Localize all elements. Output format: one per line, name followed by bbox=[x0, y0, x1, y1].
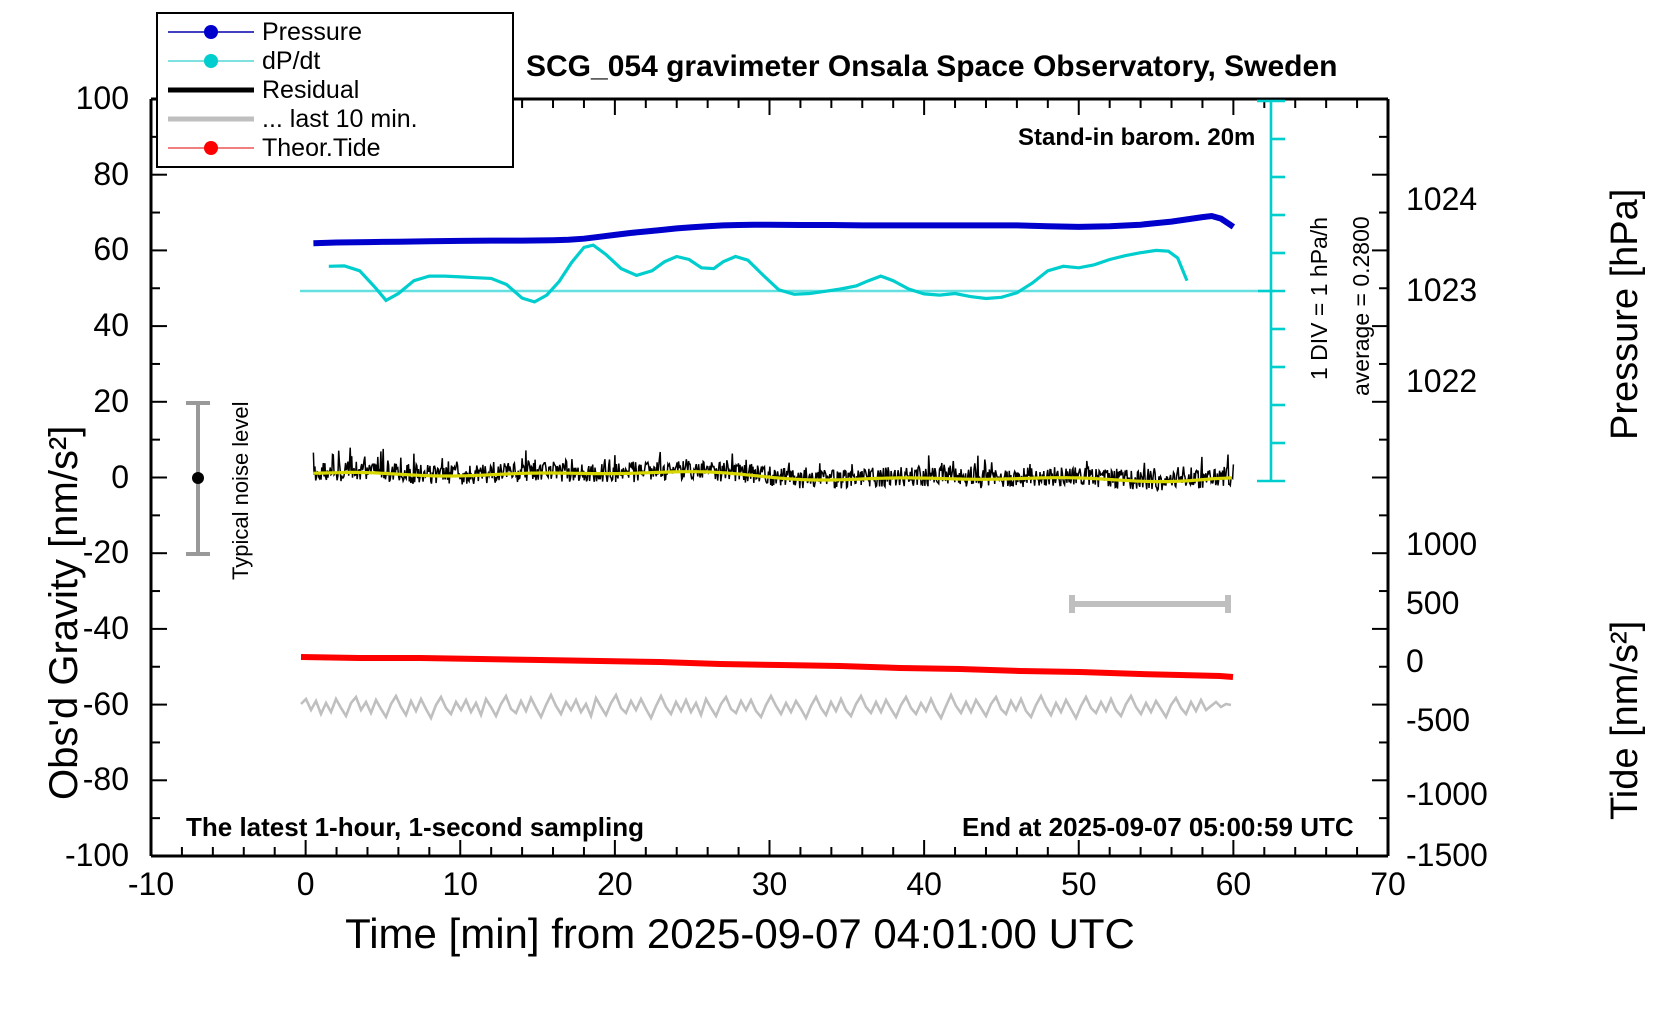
dpdt-trace bbox=[329, 245, 1187, 302]
y-axis-right-pressure-title: Pressure [hPa] bbox=[1604, 440, 1660, 483]
gravimeter-plot: Pressure dP/dt Residual ... last 10 min. bbox=[0, 0, 1660, 1020]
legend-label-residual: Residual bbox=[262, 78, 359, 103]
last-10-min-trace bbox=[301, 695, 1231, 718]
y-axis-right-ticks bbox=[1372, 99, 1388, 856]
theor-tide-line bbox=[301, 657, 1233, 677]
residual-trace bbox=[313, 448, 1233, 491]
legend-swatch-pressure bbox=[168, 22, 254, 42]
legend-item-pressure: Pressure bbox=[168, 18, 512, 47]
y-axis-left-title: Obs'd Gravity [nm/s²] bbox=[42, 800, 416, 845]
legend-swatch-dpdt bbox=[168, 51, 254, 71]
legend-swatch-residual bbox=[168, 80, 254, 100]
typical-noise-level-marker bbox=[186, 403, 210, 554]
legend-swatch-theor-tide bbox=[168, 138, 254, 158]
legend-item-dpdt: dP/dt bbox=[168, 47, 512, 76]
chart-title: SCG_054 gravimeter Onsala Space Observat… bbox=[526, 50, 1338, 84]
legend-label-last-10-min: ... last 10 min. bbox=[262, 107, 418, 132]
y-axis-right-tide-title: Tide [nm/s²] bbox=[1604, 820, 1660, 863]
legend: Pressure dP/dt Residual ... last 10 min. bbox=[156, 12, 514, 168]
y-axis-left-ticks bbox=[151, 99, 167, 856]
stand-in-barom-annotation: Stand-in barom. 20m bbox=[1018, 124, 1255, 152]
legend-item-last-10-min: ... last 10 min. bbox=[168, 105, 512, 134]
pressure-trace bbox=[313, 216, 1233, 243]
legend-label-dpdt: dP/dt bbox=[262, 49, 320, 74]
legend-item-residual: Residual bbox=[168, 76, 512, 105]
footer-right-note: End at 2025-09-07 05:00:59 UTC bbox=[962, 812, 1354, 843]
legend-item-theor-tide: Theor.Tide bbox=[168, 134, 512, 163]
dpdt-scale-bar bbox=[1257, 101, 1285, 481]
x-axis-title: Time [min] from 2025-09-07 04:01:00 UTC bbox=[0, 910, 1480, 958]
legend-swatch-last-10-min bbox=[168, 109, 254, 129]
dpdt-average-annotation: average = 0.2800 bbox=[1348, 396, 1528, 423]
legend-label-pressure: Pressure bbox=[262, 20, 362, 45]
last-10-min-span-bar bbox=[1072, 595, 1228, 613]
typical-noise-level-label: Typical noise level bbox=[228, 580, 407, 606]
legend-label-theor-tide: Theor.Tide bbox=[262, 136, 381, 161]
